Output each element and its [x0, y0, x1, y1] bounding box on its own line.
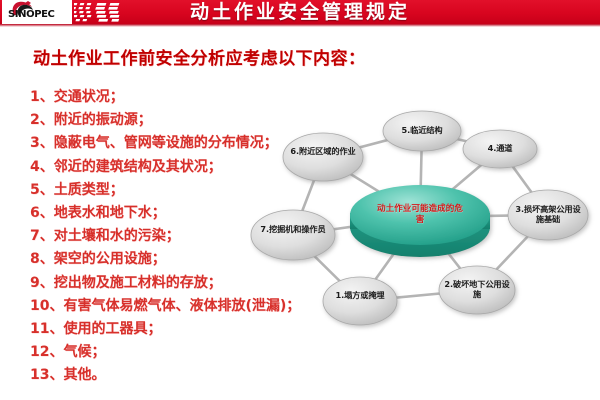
- list-item-number: 9、: [30, 272, 54, 295]
- sinopec-logo-icon: SINOPEC: [4, 1, 70, 23]
- list-item-label: 土质类型；: [54, 182, 124, 198]
- list-item-label: 使用的工器具；: [63, 321, 161, 337]
- logo-dot-pattern-icon: [74, 1, 144, 23]
- list-item-number: 7、: [30, 225, 54, 248]
- node-4: [463, 130, 537, 168]
- list-item-label: 其他。: [63, 367, 105, 383]
- list-item-number: 2、: [30, 109, 54, 132]
- list-item-number: 1、: [30, 86, 54, 109]
- list-item-number: 5、: [30, 179, 54, 202]
- node-2: [439, 266, 515, 314]
- section-subtitle: 动土作业工作前安全分析应考虑以下内容：: [33, 44, 366, 69]
- list-item-number: 8、: [30, 248, 54, 271]
- list-item-label: 挖出物及施工材料的存放；: [54, 275, 222, 291]
- node-3: [508, 190, 588, 240]
- node-6: [283, 133, 363, 181]
- list-item-number: 6、: [30, 202, 54, 225]
- list-item: 12、气候；: [30, 341, 360, 364]
- list-item-label: 交通状况；: [54, 89, 124, 105]
- list-item-label: 隐蔽电气、管网等设施的分布情况；: [54, 135, 278, 151]
- list-item-label: 附近的振动源；: [54, 112, 152, 128]
- center-node: [350, 185, 490, 257]
- sinopec-logo: SINOPEC: [2, 0, 72, 24]
- hazard-radial-diagram: 动土作业可能造成的危害 5.临近结构 4.通道 3.损坏高架公用设施基础 2.破…: [250, 105, 600, 340]
- list-item-label: 气候；: [63, 344, 105, 360]
- list-item-number: 12、: [30, 341, 63, 364]
- list-item-number: 11、: [30, 318, 63, 341]
- header-underline: [0, 24, 600, 27]
- sinopec-logo-text: SINOPEC: [8, 10, 55, 20]
- node-7: [251, 210, 335, 260]
- list-item-label: 架空的公用设施；: [54, 251, 166, 267]
- list-item: 13、其他。: [30, 364, 360, 387]
- list-item-number: 13、: [30, 364, 63, 387]
- list-item-number: 10、: [30, 295, 63, 318]
- list-item-number: 4、: [30, 156, 54, 179]
- list-item-number: 3、: [30, 132, 54, 155]
- header-banner: 动土作业安全管理规定 SINOPEC: [0, 0, 600, 24]
- node-5: [383, 111, 461, 151]
- list-item-label: 对土壤和水的污染；: [54, 228, 180, 244]
- node-1: [323, 277, 397, 325]
- list-item-label: 邻近的建筑结构及其状况；: [54, 159, 222, 175]
- list-item-label: 地表水和地下水；: [54, 205, 166, 221]
